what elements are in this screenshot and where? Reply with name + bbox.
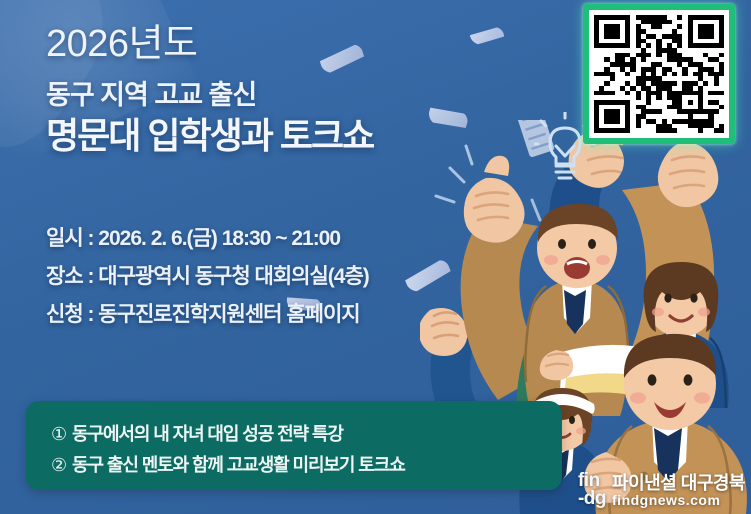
watermark: fin -dg 파이낸셜 대구경북 findgnews.com	[578, 472, 745, 508]
program-item-2: ②동구 출신 멘토와 함께 고교생활 미리보기 토크쇼	[51, 451, 405, 477]
watermark-logo-line2: -dg	[578, 490, 606, 508]
poster-headline: 2026년도 동구 지역 고교 출신 명문대 입학생과 토크쇼	[46, 22, 516, 158]
program-item-1-marker: ①	[51, 424, 66, 445]
event-datetime: 일시 : 2026. 2. 6.(금) 18:30 ~ 21:00	[46, 228, 369, 249]
qr-code-matrix	[594, 15, 724, 133]
event-venue: 장소 : 대구광역시 동구청 대회의실(4층)	[46, 266, 369, 287]
headline-subtitle: 동구 지역 고교 출신	[46, 79, 516, 111]
program-item-1-text: 동구에서의 내 자녀 대입 성공 전략 특강	[72, 424, 343, 444]
event-details: 일시 : 2026. 2. 6.(금) 18:30 ~ 21:00 장소 : 대…	[46, 228, 369, 342]
program-item-2-text: 동구 출신 멘토와 함께 고교생활 미리보기 토크쇼	[72, 455, 405, 475]
program-item-2-marker: ②	[51, 455, 66, 476]
qr-code-inner	[589, 10, 729, 138]
program-panel: ①동구에서의 내 자녀 대입 성공 전략 특강 ②동구 출신 멘토와 함께 고교…	[26, 401, 562, 490]
headline-year: 2026년도	[46, 22, 516, 67]
headline-main-title: 명문대 입학생과 토크쇼	[46, 115, 516, 157]
watermark-text: 파이낸셜 대구경북 findgnews.com	[612, 474, 745, 508]
program-item-1: ①동구에서의 내 자녀 대입 성공 전략 특강	[51, 420, 343, 446]
watermark-korean: 파이낸셜 대구경북	[612, 474, 745, 493]
qr-code[interactable]	[583, 4, 735, 144]
event-registration: 신청 : 동구진로진학지원센터 홈페이지	[46, 304, 369, 325]
event-poster: 2026년도 동구 지역 고교 출신 명문대 입학생과 토크쇼 일시 : 202…	[0, 0, 751, 514]
watermark-logo: fin -dg	[578, 472, 606, 508]
watermark-site: findgnews.com	[612, 493, 745, 508]
